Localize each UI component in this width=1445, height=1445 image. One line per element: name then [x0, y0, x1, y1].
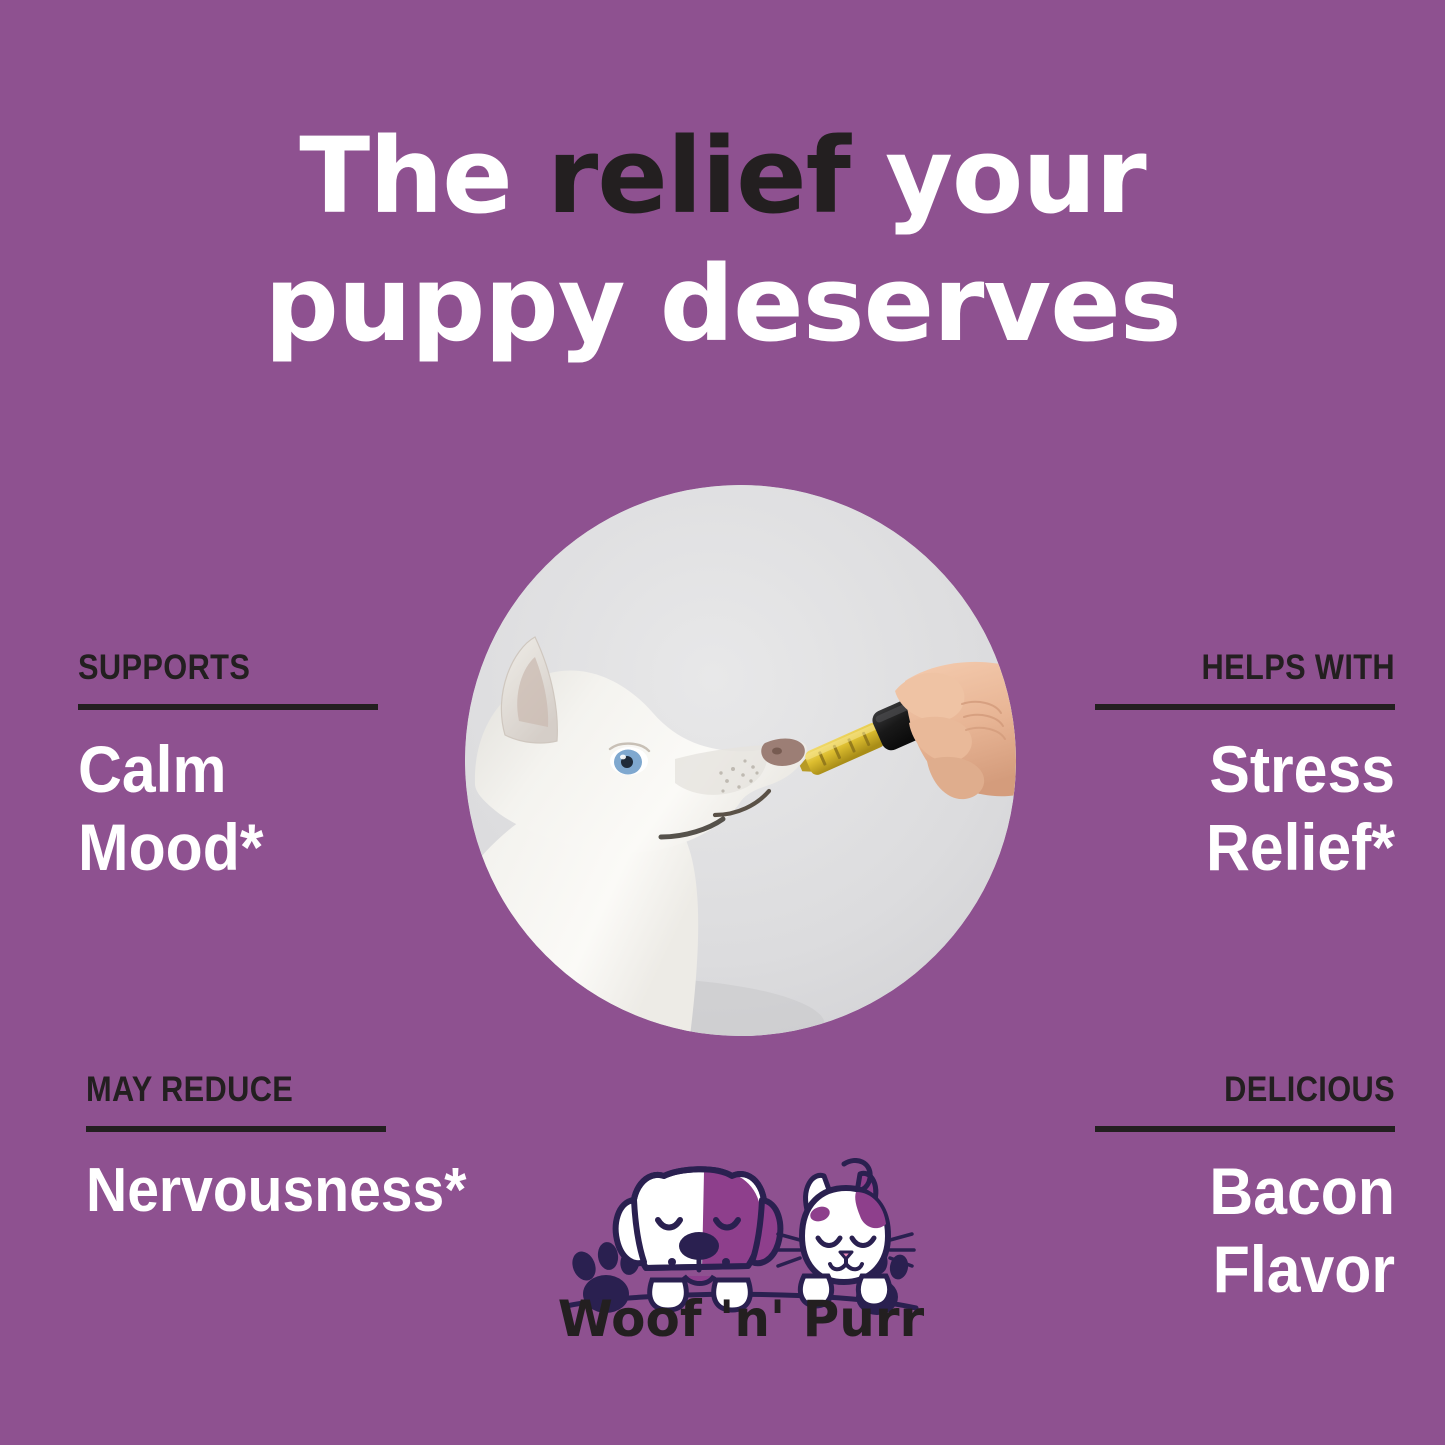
cat-face-icon — [776, 1160, 914, 1306]
page-title: The relief your puppy deserves — [0, 112, 1445, 368]
product-photo-circle — [465, 485, 1016, 1036]
headline-line-1: The relief your — [0, 112, 1445, 240]
feature-helps-with-kicker: HELPS WITH — [1131, 648, 1395, 688]
feature-delicious: DELICIOUS Bacon Flavor — [1095, 1070, 1395, 1308]
headline-word-relief: relief — [547, 115, 850, 237]
brand-name: Woof 'n' Purr — [556, 1290, 926, 1348]
feature-delicious-value: Bacon Flavor — [1119, 1152, 1395, 1308]
feature-supports-kicker: SUPPORTS — [78, 648, 342, 688]
feature-helps-with: HELPS WITH Stress Relief* — [1095, 648, 1395, 886]
feature-supports-divider — [78, 704, 378, 710]
feature-supports-value: Calm Mood* — [78, 730, 354, 886]
feature-may-reduce: MAY REDUCE Nervousness* — [86, 1070, 386, 1230]
feature-helps-with-divider — [1095, 704, 1395, 710]
dog-tongue — [684, 1276, 714, 1284]
feature-may-reduce-value: Nervousness* — [86, 1152, 362, 1230]
feature-may-reduce-divider — [86, 1126, 386, 1132]
feature-supports: SUPPORTS Calm Mood* — [78, 648, 378, 886]
feature-may-reduce-kicker: MAY REDUCE — [86, 1070, 350, 1110]
dog-face-icon — [616, 1169, 781, 1310]
headline-word-your: your — [850, 115, 1146, 237]
promo-graphic: The relief your puppy deserves SUPPORTS … — [0, 0, 1445, 1445]
headline-line-2: puppy deserves — [0, 240, 1445, 368]
feature-helps-with-value: Stress Relief* — [1119, 730, 1395, 886]
dog-with-dropper-illustration — [465, 485, 1016, 1036]
feature-delicious-kicker: DELICIOUS — [1131, 1070, 1395, 1110]
feature-delicious-divider — [1095, 1126, 1395, 1132]
headline-word-the: The — [299, 115, 547, 237]
